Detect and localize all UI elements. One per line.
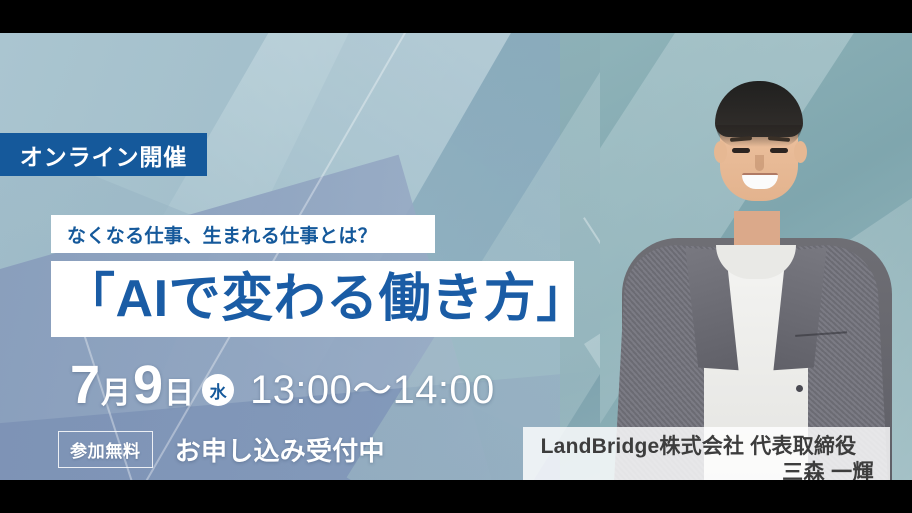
event-month-unit: 月 <box>101 379 131 409</box>
online-event-badge: オンライン開催 <box>0 133 207 176</box>
speaker-organization: LandBridge株式会社 代表取締役 <box>523 434 874 460</box>
photo-jacket-button <box>796 385 803 392</box>
free-admission-chip: 参加無料 <box>58 431 153 468</box>
registration-status-text: お申し込み受付中 <box>175 431 385 468</box>
photo-eye-right <box>770 148 788 153</box>
online-event-badge-label: オンライン開催 <box>20 138 187 172</box>
title-box: 「AIで変わる働き方」 <box>51 261 574 337</box>
event-time-range: 13:00〜14:00 <box>250 357 495 415</box>
photo-nose <box>755 155 764 171</box>
subtitle-text: なくなる仕事、生まれる仕事とは？ <box>67 221 377 248</box>
photo-ear-right <box>794 141 807 163</box>
speaker-caption-box: LandBridge株式会社 代表取締役 三森 一輝 <box>523 427 890 480</box>
event-day-unit: 日 <box>164 379 194 409</box>
speaker-name: 三森 一輝 <box>523 460 874 480</box>
photo-ear-left <box>714 141 727 163</box>
cta-row: 参加無料 お申し込み受付中 <box>58 431 385 468</box>
webinar-banner: オンライン開催 なくなる仕事、生まれる仕事とは？ 「AIで変わる働き方」 7 月… <box>0 33 912 480</box>
photo-jacket-pocket <box>795 331 849 361</box>
speaker-photo <box>600 33 912 480</box>
event-datetime: 7 月 9 日 水 13:00〜14:00 <box>70 357 495 415</box>
event-day-of-week-badge: 水 <box>202 374 234 406</box>
photo-eye-left <box>732 148 750 153</box>
subtitle-box: なくなる仕事、生まれる仕事とは？ <box>51 215 435 253</box>
photo-hair-fade <box>716 125 802 147</box>
event-month-number: 7 <box>70 358 100 412</box>
event-day-number: 9 <box>133 358 163 412</box>
page-title: 「AIで変わる働き方」 <box>63 273 589 325</box>
